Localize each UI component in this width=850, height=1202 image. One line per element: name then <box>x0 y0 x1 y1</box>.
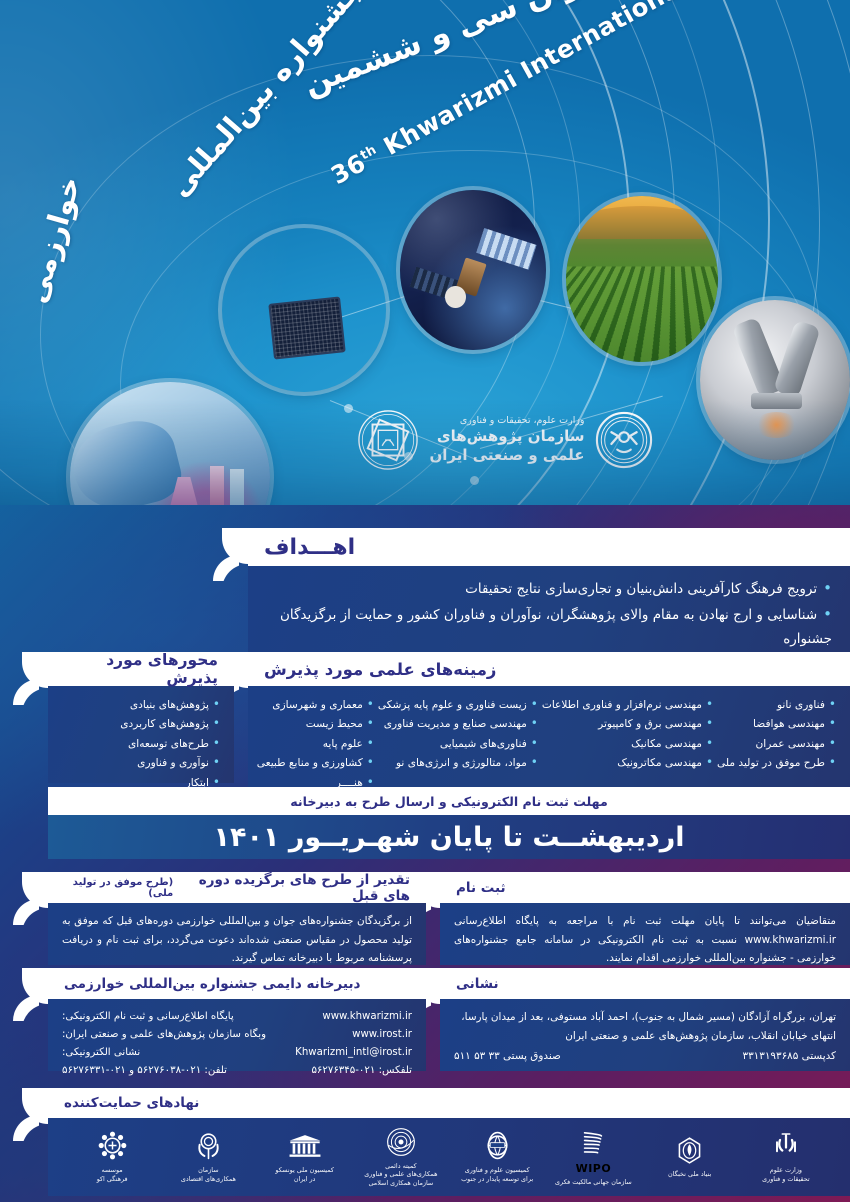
eco-organization-logo-icon <box>194 1129 223 1163</box>
secretariat-body: www.khwarizmi.ir پایگاه اطلاع‌رسانی و ثب… <box>48 999 426 1071</box>
list-item: معماری و شهرسازی <box>257 695 374 714</box>
list-item: فناوری نانو <box>717 695 836 714</box>
list-item: مواد، متالورژی و انرژی‌های نو <box>378 753 538 772</box>
previous-winners-text: از برگزیدگان جشنواره‌های جوان و بین‌المل… <box>48 903 426 965</box>
hero-banner: فراخوان سی و ششمین جشنواره بین‌المللی خو… <box>0 0 850 520</box>
previous-winners-title-note: (طرح موفق در تولید ملی) <box>64 877 173 899</box>
sponsor-unesco: کمیسیون ملی یونسکودر ایران <box>259 1129 351 1183</box>
sponsor-caption: سازمان جهانی مالکیت فکری <box>555 1178 632 1187</box>
address-section: نشانی تهران، بزرگراه آزادگان (مسیر شمال … <box>440 968 850 1071</box>
address-body: تهران، بزرگراه آزادگان (مسیر شمال به جنو… <box>440 999 850 1071</box>
list-item: طرح موفق در تولید ملی <box>717 753 836 772</box>
previous-winners-section: تقدیر از طرح های برگزیده دوره های قبل (ط… <box>48 872 426 965</box>
contact-label: پایگاه اطلاع‌رسانی و ثبت نام الکترونیکی: <box>62 1008 234 1026</box>
contact-value[interactable]: www.khwarizmi.ir <box>322 1008 412 1026</box>
fields-column-0: مهندسی نرم‌افزار و فناوری اطلاعات مهندسی… <box>542 695 713 792</box>
sponsor-ministry-science: وزارت علومتحقیقات و فناوری <box>740 1129 832 1183</box>
list-item: مهندسی هوافضا <box>717 714 836 733</box>
microchip-circuit-photo <box>222 228 386 392</box>
registration-section: ثبت نام متقاضیان می‌توانند تا پایان مهلت… <box>440 872 850 965</box>
accepted-axes-title: محورهای مورد پذیرش <box>48 652 234 686</box>
deadline-banner: مهلت ثبت نام الکترونیکی و ارسال طرح به د… <box>48 787 850 859</box>
contact-row: www.irost.ir وبگاه سازمان پژوهش‌های علمی… <box>62 1026 412 1044</box>
sponsors-title: نهادهای حمایت‌کننده <box>48 1088 850 1118</box>
registration-title: ثبت نام <box>440 872 850 903</box>
secretariat-title: دبیرخانه دایمی جشنواره بین‌المللی خوارزم… <box>48 968 426 999</box>
list-item: مهندسی صنایع و مدیریت فناوری <box>378 714 538 733</box>
list-item: مهندسی عمران <box>717 734 836 753</box>
sponsor-oic-committee: کمیته دائمیهمکاری‌های علمی و فناوریسازما… <box>355 1125 447 1188</box>
microscope-eyepiece-right <box>773 320 820 398</box>
list-item: محیط زیست <box>257 714 374 733</box>
sponsor-caption: موسسهفرهنگی اکو <box>97 1166 128 1183</box>
scientific-fields-section: زمینه‌های علمی مورد پذیرش فناوری نانو مه… <box>248 652 850 802</box>
satellite-dish <box>445 286 465 308</box>
contact-row: تلفکس: ۰۲۱-۵۶۲۷۶۳۴۵ تلفن: ۰۲۱-۵۶۲۷۶۰۳۸ و… <box>62 1062 412 1080</box>
list-item: علوم پایه <box>257 734 374 753</box>
list-item: کشاورزی و منابع طبیعی <box>257 753 374 772</box>
list-item: پژوهش‌های کاربردی <box>62 714 220 733</box>
list-item: شناسایی و ارج نهادن به مقام والای پژوهشگ… <box>266 602 832 651</box>
scientific-fields-title: زمینه‌های علمی مورد پذیرش <box>248 652 850 686</box>
sponsors-logo-row: وزارت علومتحقیقات و فناوری بنیاد ملی نخب… <box>48 1118 850 1196</box>
deadline-label: مهلت ثبت نام الکترونیکی و ارسال طرح به د… <box>48 787 850 815</box>
fields-list-3: فناوری نانو مهندسی هوافضا مهندسی عمران ط… <box>717 695 836 773</box>
accepted-axes-section: محورهای مورد پذیرش پژوهش‌های بنیادی پژوه… <box>48 652 234 783</box>
address-title: نشانی <box>440 968 850 999</box>
chip-body <box>268 297 346 360</box>
contact-row: www.khwarizmi.ir پایگاه اطلاع‌رسانی و ثب… <box>62 1008 412 1026</box>
sponsor-caption: وزارت علومتحقیقات و فناوری <box>762 1166 810 1183</box>
list-item: مهندسی برق و کامپیوتر <box>542 714 713 733</box>
sponsor-eco-cultural-institute: موسسهفرهنگی اکو <box>66 1129 158 1183</box>
fax-value: تلفکس: ۰۲۱-۵۶۲۷۶۳۴۵ <box>311 1062 412 1080</box>
list-item: پژوهش‌های بنیادی <box>62 695 220 714</box>
sponsor-elites-foundation: بنیاد ملی نخبگان <box>644 1133 736 1179</box>
sponsors-section: نهادهای حمایت‌کننده وزارت علومتحقیقات و … <box>48 1088 850 1196</box>
fields-list-0: مهندسی نرم‌افزار و فناوری اطلاعات مهندسی… <box>542 695 713 773</box>
list-item: نوآوری و فناوری <box>62 753 220 772</box>
sponsor-caption: کمیسیون علوم و فناوریبرای توسعه پایدار د… <box>461 1166 533 1183</box>
postal-code: کدپستی ۳۳۱۳۱۹۳۶۸۵ <box>743 1047 836 1066</box>
sponsor-caption: کمیسیون ملی یونسکودر ایران <box>275 1166 334 1183</box>
phone-label: تلفن: ۰۲۱-۵۶۲۷۶۰۳۸ و ۰۲۱-۵۶۲۷۶۳۳۱ <box>62 1062 227 1080</box>
list-item: مهندسی مکانیک <box>542 734 713 753</box>
address-codes: کدپستی ۳۳۱۳۱۹۳۶۸۵ صندوق پستی ۳۳ ۵۳ ۵۱۱ <box>454 1047 836 1066</box>
sponsor-eco-organization: سازمانهمکاری‌های اقتصادی <box>162 1129 254 1183</box>
goals-title: اهـــداف <box>248 528 850 566</box>
list-item: طرح‌های توسعه‌ای <box>62 734 220 753</box>
sponsor-caption: سازمانهمکاری‌های اقتصادی <box>181 1166 236 1183</box>
fields-column-3: فناوری نانو مهندسی هوافضا مهندسی عمران ط… <box>717 695 836 792</box>
accepted-axes-body: پژوهش‌های بنیادی پژوهش‌های کاربردی طرح‌ه… <box>48 686 234 783</box>
sponsor-caption: کمیته دائمیهمکاری‌های علمی و فناوریسازما… <box>364 1162 437 1188</box>
accepted-axes-list: پژوهش‌های بنیادی پژوهش‌های کاربردی طرح‌ه… <box>62 695 220 792</box>
hill-shape <box>578 206 706 239</box>
sponsor-comsats: کمیسیون علوم و فناوریبرای توسعه پایدار د… <box>451 1129 543 1183</box>
poster-root: فراخوان سی و ششمین جشنواره بین‌المللی خو… <box>0 0 850 1202</box>
sponsor-caption: بنیاد ملی نخبگان <box>668 1170 711 1179</box>
contact-label: نشانی الکترونیکی: <box>62 1044 140 1062</box>
sponsor-wipo: WIPO سازمان جهانی مالکیت فکری <box>547 1125 639 1187</box>
agriculture-field-photo <box>566 196 718 362</box>
list-item: مهندسی نرم‌افزار و فناوری اطلاعات <box>542 695 713 714</box>
fields-column-1: زیست فناوری و علوم پایه پزشکی مهندسی صنا… <box>378 695 538 792</box>
contact-row: Khwarizmi_intl@irost.ir نشانی الکترونیکی… <box>62 1044 412 1062</box>
previous-winners-title: تقدیر از طرح های برگزیده دوره های قبل (ط… <box>48 872 426 903</box>
scientific-fields-body: فناوری نانو مهندسی هوافضا مهندسی عمران ط… <box>248 686 850 802</box>
wipo-wordmark: WIPO <box>576 1162 612 1175</box>
wipo-logo-icon <box>580 1125 606 1159</box>
satellite-photo <box>400 190 546 350</box>
address-line-2: انتهای خیابان انقلاب، سازمان پژوهش‌های ع… <box>454 1027 836 1046</box>
eco-cultural-institute-logo-icon <box>98 1129 127 1163</box>
contact-label: وبگاه سازمان پژوهش‌های علمی و صنعتی ایرا… <box>62 1026 266 1044</box>
contact-value[interactable]: www.irost.ir <box>352 1026 412 1044</box>
list-item: فناوری‌های شیمیایی <box>378 734 538 753</box>
fields-list-2: معماری و شهرسازی محیط زیست علوم پایه کشا… <box>257 695 374 792</box>
previous-winners-title-main: تقدیر از طرح های برگزیده دوره های قبل <box>178 872 410 904</box>
secretariat-section: دبیرخانه دایمی جشنواره بین‌المللی خوارزم… <box>48 968 426 1071</box>
list-item: زیست فناوری و علوم پایه پزشکی <box>378 695 538 714</box>
elites-foundation-logo-icon <box>674 1133 705 1167</box>
fields-column-2: معماری و شهرسازی محیط زیست علوم پایه کشا… <box>257 695 374 792</box>
ministry-science-logo-icon <box>771 1129 801 1163</box>
address-line-1: تهران، بزرگراه آزادگان (مسیر شمال به جنو… <box>454 1008 836 1027</box>
comsats-logo-icon <box>483 1129 512 1163</box>
fields-list-1: زیست فناوری و علوم پایه پزشکی مهندسی صنا… <box>378 695 538 773</box>
contact-value[interactable]: Khwarizmi_intl@irost.ir <box>295 1044 412 1062</box>
deadline-date: اردیبهشــت تا پایان شهـریــور ۱۴۰۱ <box>48 815 850 859</box>
list-item: ترویج فرهنگ کارآفرینی دانش‌بنیان و تجاری… <box>266 576 832 602</box>
hero-bottom-fade <box>0 400 850 520</box>
list-item: مهندسی مکاترونیک <box>542 753 713 772</box>
crop-rows <box>566 267 718 362</box>
registration-text: متقاضیان می‌توانند تا پایان مهلت ثبت نام… <box>440 903 850 965</box>
oic-standing-committee-logo-icon <box>386 1125 416 1159</box>
unesco-logo-icon <box>288 1129 322 1163</box>
po-box: صندوق پستی ۳۳ ۵۳ ۵۱۱ <box>454 1047 561 1066</box>
